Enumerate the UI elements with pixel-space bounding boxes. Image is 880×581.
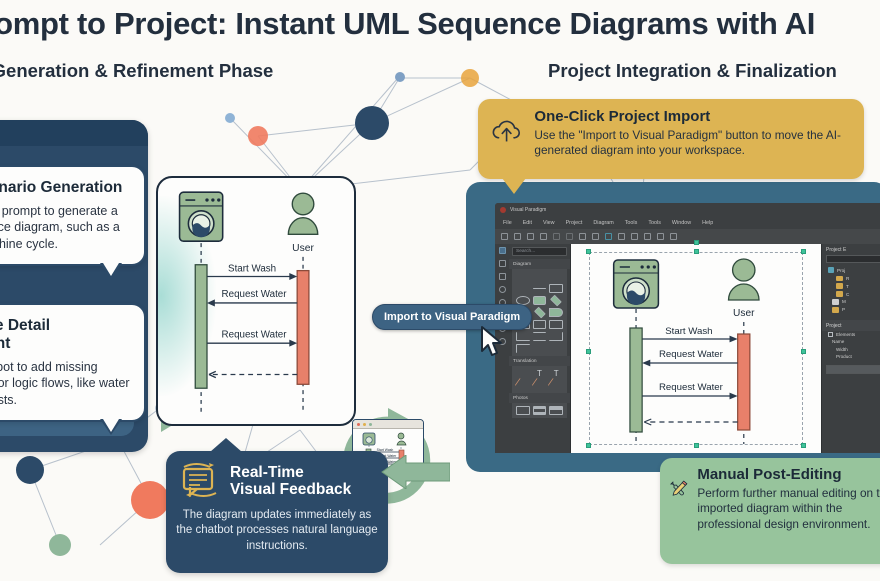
rect-shape-icon[interactable] — [549, 284, 563, 293]
ide-canvas[interactable]: User — [571, 244, 821, 453]
card-initial-scenario-generation: Initial Scenario Generation Use a simple… — [0, 165, 146, 266]
line-shape-icon[interactable] — [533, 288, 547, 289]
text-tool-icon[interactable]: T — [533, 369, 547, 378]
menu-tools-2[interactable]: Tools — [648, 220, 661, 226]
ide-titlebar: Visual Paradigm — [495, 203, 880, 216]
apply-button[interactable] — [826, 365, 880, 374]
message-label-0: Start Wash — [228, 264, 276, 275]
selection-handle[interactable] — [694, 443, 699, 448]
selection-handle[interactable] — [801, 249, 806, 254]
visual-paradigm-window: Visual Paradigm File Edit View Project D… — [495, 203, 880, 453]
photo-header-icon[interactable] — [549, 406, 563, 415]
connector1-icon[interactable] — [516, 332, 530, 341]
pointer-tool-icon[interactable] — [499, 247, 506, 254]
tree-item[interactable]: M — [822, 298, 880, 306]
message-label-1: Request Water — [222, 289, 288, 300]
flag-shape-icon[interactable] — [549, 308, 563, 317]
user-actor-icon — [288, 193, 317, 234]
tree-item[interactable]: P — [822, 306, 880, 314]
import-to-visual-paradigm-button[interactable]: Import to Visual Paradigm — [372, 304, 532, 330]
infographic-canvas: Prompt to Project: Instant UML Sequence … — [0, 0, 880, 581]
washing-machine-icon — [180, 192, 223, 241]
chatbot-panel-header — [0, 120, 148, 146]
format-icon[interactable] — [605, 233, 612, 240]
menu-window[interactable]: Window — [672, 220, 691, 226]
grid-tool-icon[interactable] — [499, 273, 506, 280]
palette-section-photos[interactable]: Photos — [509, 393, 570, 403]
selection-handle[interactable] — [586, 349, 591, 354]
card-heading: Initial Scenario Generation — [0, 179, 130, 197]
checkbox-icon[interactable] — [828, 332, 833, 337]
folder-icon — [836, 276, 843, 282]
select-shape-icon[interactable] — [516, 272, 530, 281]
open-folder-icon[interactable] — [514, 233, 521, 240]
menu-edit[interactable]: Edit — [523, 220, 532, 226]
app-logo-icon — [500, 207, 506, 213]
ide-toolbar[interactable] — [495, 229, 880, 244]
card-heading: One-Click Project Import — [534, 108, 852, 125]
selection-handle[interactable] — [586, 249, 591, 254]
card-real-time-visual-feedback: Real-Time Visual Feedback The diagram up… — [166, 451, 388, 573]
layout-icon[interactable] — [657, 233, 664, 240]
tree-item[interactable]: R — [822, 274, 880, 282]
wrench-pencil-icon — [670, 466, 688, 510]
project-tree-root-label: Proj — [837, 268, 845, 273]
point-shape-icon[interactable] — [516, 284, 530, 293]
project-explorer-title: Project E — [822, 244, 880, 255]
connector3-icon[interactable] — [549, 332, 563, 341]
menu-file[interactable]: File — [503, 220, 512, 226]
cursor-tool-icon[interactable] — [516, 369, 530, 378]
palette-grid-translation[interactable]: T T — [512, 366, 567, 393]
card-body: Use the "Import to Visual Paradigm" butt… — [534, 128, 852, 159]
frame-tool-icon[interactable] — [499, 260, 506, 267]
menu-tools[interactable]: Tools — [625, 220, 638, 226]
generated-diagram-card: User Start Wash Request Water Request Wa… — [156, 176, 356, 426]
diamond-shape-icon[interactable] — [534, 307, 546, 319]
card-heading-line2: Visual Feedback — [230, 481, 351, 498]
sequence-diagram-left: User Start Wash Request Water Request Wa… — [158, 178, 354, 424]
project-explorer-filter[interactable] — [826, 255, 880, 263]
card-body: Use a simple prompt to generate a base s… — [0, 203, 130, 253]
ide-shape-palette: Search... Diagram — [509, 244, 571, 453]
green-left-arrow-icon — [380, 455, 450, 489]
card-heading-line1: Real-Time — [230, 464, 351, 481]
ide-menubar[interactable]: File Edit View Project Diagram Tools Too… — [495, 216, 880, 229]
menu-view[interactable]: View — [543, 220, 555, 226]
card-body: Perform further manual editing on the im… — [697, 486, 880, 532]
pen-icon[interactable] — [670, 233, 677, 240]
box3-shape-icon[interactable] — [549, 320, 563, 329]
process-shape-icon[interactable] — [533, 296, 547, 305]
ide-body: Search... Diagram — [495, 244, 880, 453]
card-tail — [502, 178, 526, 194]
save-icon[interactable] — [527, 233, 534, 240]
menu-project[interactable]: Project — [566, 220, 583, 226]
connector2-icon[interactable] — [533, 332, 547, 341]
tree-item[interactable]: C — [822, 290, 880, 298]
pen2-tool-icon[interactable] — [531, 378, 547, 393]
card-body: The diagram updates immediately as the c… — [176, 508, 378, 554]
selection-handle[interactable] — [586, 443, 591, 448]
project-tree-root[interactable]: Proj — [822, 266, 880, 274]
card-manual-post-editing: Manual Post-Editing Perform further manu… — [660, 458, 880, 564]
delete-icon[interactable] — [592, 233, 599, 240]
property-row[interactable]: Product — [822, 353, 880, 360]
project-node-icon — [828, 267, 834, 273]
cut-icon[interactable] — [579, 233, 586, 240]
bubble-tail — [100, 263, 122, 279]
actor-label-user: User — [292, 243, 314, 254]
folder-icon — [836, 291, 843, 297]
message-label-2: Request Water — [222, 329, 288, 340]
menu-diagram[interactable]: Diagram — [593, 220, 613, 226]
ide-window-shell: Visual Paradigm File Edit View Project D… — [466, 182, 880, 472]
card-heading: Interactive Detail Refinement — [0, 317, 130, 353]
card-interactive-detail-refinement: Interactive Detail Refinement Use the ch… — [0, 303, 146, 422]
ide-right-panel: Project E Proj R T C M P Project Element… — [821, 244, 880, 453]
property-row[interactable]: Width — [822, 346, 880, 353]
undo-icon[interactable] — [553, 233, 560, 240]
card-one-click-project-import: One-Click Project Import Use the "Import… — [478, 99, 864, 179]
palette-section-diagram[interactable]: Diagram — [509, 259, 570, 269]
dot-shape-icon[interactable] — [533, 272, 547, 281]
card-heading: Manual Post-Editing — [697, 466, 880, 483]
palette-search-input[interactable]: Search... — [512, 247, 567, 256]
cloud-upload-icon — [490, 108, 524, 154]
palette-grid-photos[interactable] — [512, 403, 567, 418]
page-title: Prompt to Project: Instant UML Sequence … — [0, 6, 880, 42]
selection-handle[interactable] — [694, 249, 699, 254]
text-large-tool-icon[interactable]: T — [549, 369, 563, 378]
selection-outline — [589, 252, 803, 445]
menu-help[interactable]: Help — [702, 220, 713, 226]
new-file-icon[interactable] — [501, 233, 508, 240]
zoom-out-icon[interactable] — [499, 286, 506, 293]
properties-panel-title[interactable]: Project — [822, 320, 880, 331]
photo-rows-icon[interactable] — [533, 406, 547, 415]
folder-icon — [836, 283, 843, 289]
align-icon[interactable] — [644, 233, 651, 240]
card-body: Use the chatbot to add missing component… — [0, 359, 130, 409]
bubble-tail — [100, 419, 122, 435]
pen1-tool-icon[interactable] — [515, 378, 531, 393]
redo-icon[interactable] — [566, 233, 573, 240]
chat-refresh-icon — [178, 461, 222, 501]
mini-window-titlebar — [353, 420, 423, 429]
selection-handle[interactable] — [801, 443, 806, 448]
decision-shape-icon[interactable] — [550, 295, 562, 307]
rotate-handle[interactable] — [694, 240, 699, 245]
connector4-icon[interactable] — [516, 344, 530, 353]
print-icon[interactable] — [540, 233, 547, 240]
ide-window-title: Visual Paradigm — [510, 207, 546, 213]
folder-icon — [832, 299, 839, 305]
property-row[interactable]: Elements — [822, 331, 880, 338]
selection-handle[interactable] — [801, 349, 806, 354]
export-icon[interactable] — [631, 233, 638, 240]
section-title-right: Project Integration & Finalization — [548, 60, 837, 82]
share-icon[interactable] — [618, 233, 625, 240]
palette-section-translation[interactable]: Translation — [509, 356, 570, 366]
mouse-cursor-icon — [479, 325, 505, 357]
pen3-tool-icon[interactable] — [548, 378, 564, 393]
box2-shape-icon[interactable] — [533, 320, 547, 329]
photo-single-icon[interactable] — [516, 406, 530, 415]
card-notch — [210, 438, 242, 452]
property-row[interactable]: Name — [822, 338, 880, 345]
folder-icon — [832, 307, 839, 313]
section-title-left: AI Generation & Refinement Phase — [0, 60, 273, 82]
tree-item[interactable]: T — [822, 282, 880, 290]
dot2-shape-icon[interactable] — [549, 272, 563, 281]
